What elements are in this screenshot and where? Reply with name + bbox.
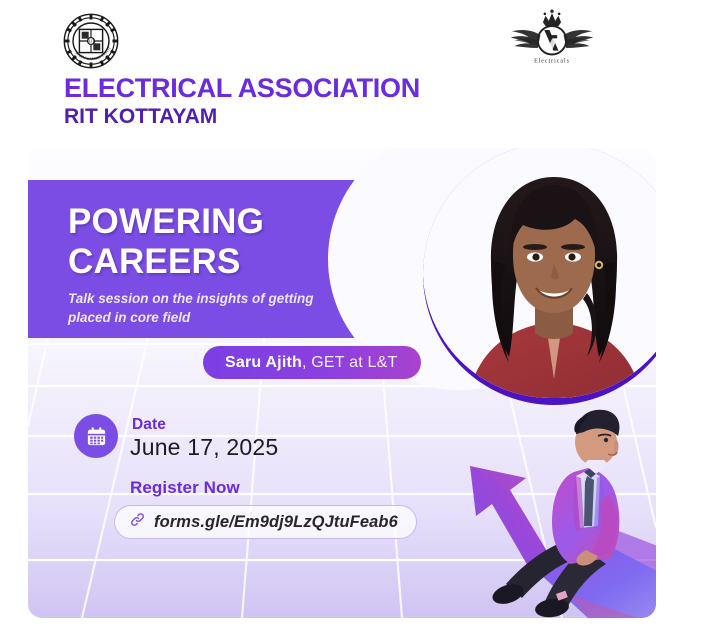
banner-title-line-1: POWERING [68, 202, 368, 242]
speaker-role: , GET at L&T [302, 354, 397, 372]
poster-content-card: POWERING CAREERS Talk session on the ins… [28, 148, 656, 618]
svg-text:Electricals: Electricals [534, 58, 570, 64]
registration-link-text: forms.gle/Em9dj9LzQJtuFeab6 [154, 513, 398, 532]
speaker-name-badge: Saru Ajith, GET at L&T [203, 346, 421, 379]
event-poster: RIT RAJIV GANDHI INSTITUTE [0, 0, 711, 640]
calendar-icon [74, 414, 118, 458]
businessman-on-growth-arrow-illustration [448, 398, 656, 618]
speaker-name: Saru Ajith [225, 354, 302, 372]
speaker-portrait-photo [423, 148, 656, 405]
electrical-association-winged-crown-logo: Electricals [500, 8, 604, 70]
title-banner: POWERING CAREERS Talk session on the ins… [28, 180, 448, 338]
register-now-label: Register Now [130, 478, 240, 498]
date-value: June 17, 2025 [130, 434, 278, 461]
rit-college-seal-logo: RIT RAJIV GANDHI INSTITUTE [62, 12, 120, 70]
date-label: Date [132, 416, 166, 434]
registration-link-pill[interactable]: forms.gle/Em9dj9LzQJtuFeab6 [114, 505, 417, 539]
organization-title: ELECTRICAL ASSOCIATION [64, 74, 420, 103]
speaker-portrait [423, 148, 656, 405]
banner-text-block: POWERING CAREERS Talk session on the ins… [68, 202, 368, 327]
banner-title-line-2: CAREERS [68, 242, 368, 282]
organization-subtitle: RIT KOTTAYAM [64, 106, 217, 128]
banner-subtitle: Talk session on the insights of getting … [68, 289, 348, 327]
svg-text:RIT: RIT [87, 40, 95, 45]
link-paperclip-icon [129, 511, 146, 533]
